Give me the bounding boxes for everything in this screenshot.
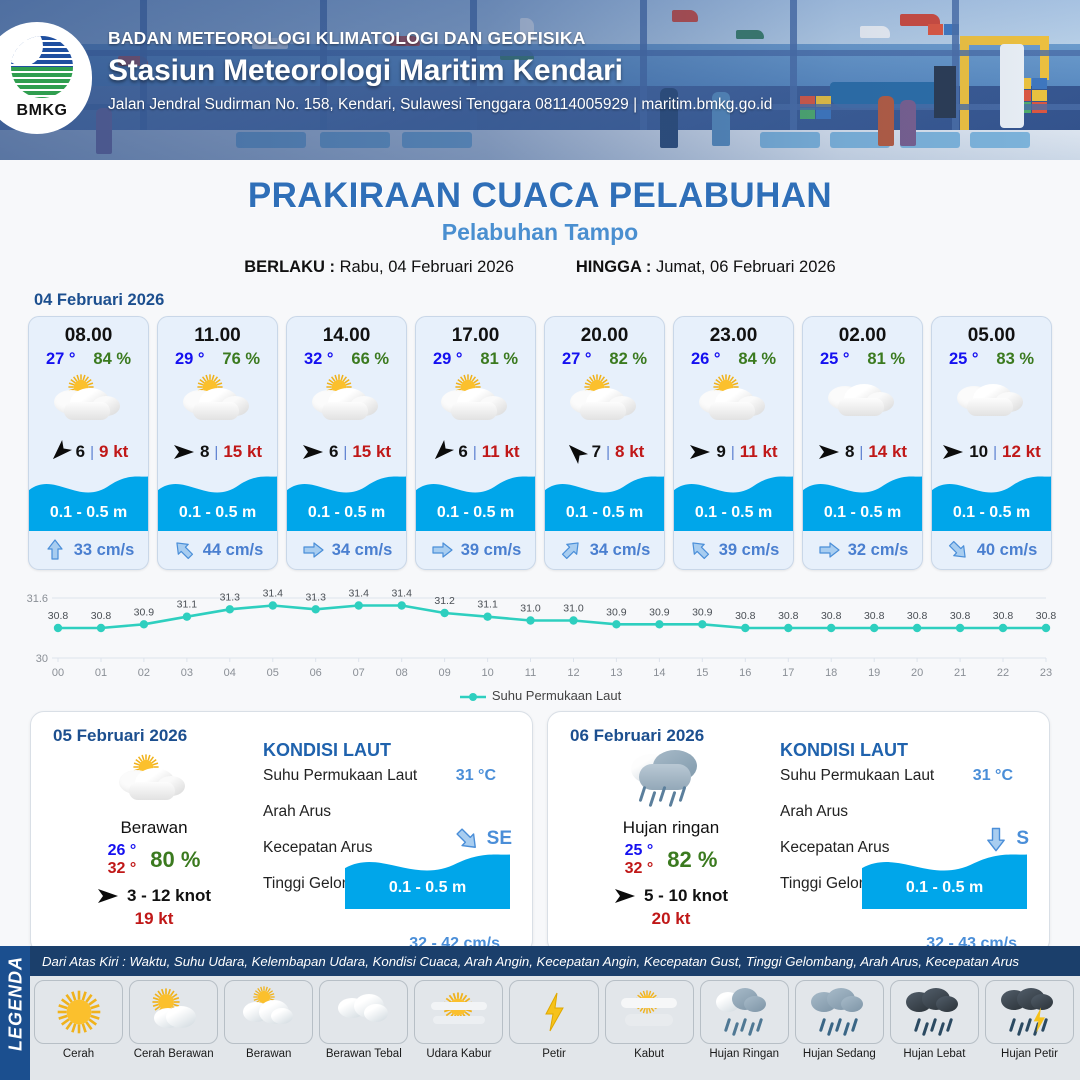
card-wave-height: 0.1 - 0.5 m (416, 504, 535, 522)
card-gust: 14 kt (868, 442, 907, 462)
svg-text:31.4: 31.4 (263, 588, 284, 600)
legend-item-icon-box (319, 980, 408, 1044)
legend-item-icon-box (414, 980, 503, 1044)
card-temperature: 27 ° (46, 350, 76, 369)
legend-item-icon-box (795, 980, 884, 1044)
card-wind: 6 | 15 kt (287, 435, 406, 469)
current-direction-arrow-e-icon (301, 538, 325, 562)
legend-item: Hujan Lebat (890, 980, 979, 1060)
card-time: 23.00 (674, 317, 793, 347)
svg-text:05: 05 (267, 667, 279, 679)
page-title: PRAKIRAAN CUACA PELABUHAN (0, 176, 1080, 216)
daily-weather-icon (566, 750, 776, 816)
legend-item-icon-box (985, 980, 1074, 1044)
heavy-rain-icon (906, 988, 962, 1036)
svg-text:30.8: 30.8 (821, 610, 842, 622)
card-current: 44 cm/s (158, 531, 277, 569)
svg-text:21: 21 (954, 667, 966, 679)
sun-cloud-icon (146, 988, 202, 1036)
legend-item-label: Cerah (34, 1048, 123, 1060)
card-humidity: 83 % (996, 350, 1034, 369)
legend-item-label: Hujan Petir (985, 1048, 1074, 1060)
station-address: Jalan Jendral Sudirman No. 158, Kendari,… (108, 96, 772, 114)
card-weather-icon (803, 371, 922, 435)
legend-item-label: Hujan Ringan (700, 1048, 789, 1060)
valid-from-label: BERLAKU : (244, 258, 335, 276)
lightning-icon-wrap (526, 988, 582, 1036)
card-wave: 0.1 - 0.5 m (932, 469, 1051, 531)
legend-item-label: Petir (509, 1048, 598, 1060)
lightning-icon (542, 992, 566, 1032)
daily-wind-range: 3 - 12 knot (127, 886, 211, 906)
card-wind: 8 | 15 kt (158, 435, 277, 469)
sst-chart-svg: 31.63030.80030.80130.90231.10331.30431.4… (0, 584, 1080, 688)
card-current: 34 cm/s (545, 531, 664, 569)
card-wind: 7 | 8 kt (545, 435, 664, 469)
legend-item-icon-box (605, 980, 694, 1044)
card-wind-speed: 6 (329, 442, 338, 462)
legend-side-title: LEGENDA (6, 952, 27, 1056)
svg-text:30.9: 30.9 (134, 606, 155, 618)
card-wind: 6 | 9 kt (29, 435, 148, 469)
card-temperature: 25 ° (820, 350, 850, 369)
card-time: 02.00 (803, 317, 922, 347)
svg-text:31.1: 31.1 (177, 599, 198, 611)
daily-wind: 3 - 12 knot (49, 886, 259, 906)
daily-wind-range: 5 - 10 knot (644, 886, 728, 906)
svg-text:18: 18 (825, 667, 837, 679)
valid-to-label: HINGGA : (576, 258, 651, 276)
light-rain-icon (716, 988, 772, 1036)
partly-cloudy-icon (115, 754, 193, 812)
card-current-speed: 33 cm/s (74, 541, 135, 560)
daily-temp-max: 32 ° (625, 860, 654, 878)
card-wind-speed: 10 (969, 442, 988, 462)
wave-graphic (862, 847, 1027, 909)
partly-cloudy-icon (50, 374, 128, 432)
svg-text:02: 02 (138, 667, 150, 679)
card-wave: 0.1 - 0.5 m (158, 469, 277, 531)
legend-item: Hujan Petir (985, 980, 1074, 1060)
legend-item-label: Berawan Tebal (319, 1048, 408, 1060)
svg-text:11: 11 (525, 667, 536, 679)
partly-cloudy-icon (308, 374, 386, 432)
svg-text:31.6: 31.6 (27, 593, 48, 605)
svg-text:12: 12 (567, 667, 579, 679)
legend-strip: LEGENDA Dari Atas Kiri : Waktu, Suhu Uda… (0, 946, 1080, 1080)
card-current-speed: 39 cm/s (719, 541, 780, 560)
partly-cloudy-icon (695, 374, 773, 432)
card-humidity: 84 % (738, 350, 776, 369)
svg-text:03: 03 (181, 667, 193, 679)
card-wind: 6 | 11 kt (416, 435, 535, 469)
page-subtitle: Pelabuhan Tampo (0, 219, 1080, 246)
card-wave: 0.1 - 0.5 m (803, 469, 922, 531)
legend-item-icon-box (890, 980, 979, 1044)
daily-wind: 5 - 10 knot (566, 886, 776, 906)
svg-text:31.0: 31.0 (520, 603, 541, 615)
hourly-date-label: 04 Februari 2026 (34, 291, 1080, 310)
svg-text:04: 04 (224, 667, 236, 679)
daily-gust: 19 kt (49, 909, 259, 929)
daily-humidity: 80 % (150, 847, 200, 873)
card-wind: 10 | 12 kt (932, 435, 1051, 469)
legend-item: Petir (509, 980, 598, 1060)
card-wave-height: 0.1 - 0.5 m (803, 504, 922, 522)
rain-icon (625, 750, 717, 816)
card-wave-height: 0.1 - 0.5 m (674, 504, 793, 522)
svg-text:30.8: 30.8 (864, 610, 885, 622)
daily-humidity: 82 % (667, 847, 717, 873)
card-current-speed: 34 cm/s (590, 541, 651, 560)
legend-item: Kabut (605, 980, 694, 1060)
legend-item-icon-box (129, 980, 218, 1044)
haze-icon (431, 988, 487, 1036)
hourly-card: 14.00 32 ° 66 % 6 | 15 kt 0.1 - 0.5 m 34… (286, 316, 407, 570)
svg-text:10: 10 (481, 667, 493, 679)
card-weather-icon (287, 371, 406, 435)
card-gust: 15 kt (352, 442, 391, 462)
hourly-forecast-row: 08.00 27 ° 84 % 6 | 9 kt 0.1 - 0.5 m 33 … (0, 316, 1080, 570)
wind-direction-arrow-e-icon (302, 442, 324, 462)
card-wave: 0.1 - 0.5 m (287, 469, 406, 531)
card-wind-speed: 8 (845, 442, 854, 462)
wind-direction-arrow-e-icon (942, 442, 964, 462)
card-current: 39 cm/s (416, 531, 535, 569)
card-temperature: 29 ° (433, 350, 463, 369)
card-wave: 0.1 - 0.5 m (545, 469, 664, 531)
wind-direction-arrow-e-icon (173, 442, 195, 462)
card-current-speed: 39 cm/s (461, 541, 522, 560)
card-current-speed: 34 cm/s (332, 541, 393, 560)
valid-from-value: Rabu, 04 Februari 2026 (340, 258, 514, 276)
card-gust: 12 kt (1002, 442, 1041, 462)
card-wind: 8 | 14 kt (803, 435, 922, 469)
chart-legend-marker (459, 692, 487, 702)
svg-text:30.9: 30.9 (649, 606, 670, 618)
bmkg-logo-mark (11, 36, 73, 98)
card-wind-speed: 9 (716, 442, 725, 462)
current-direction-arrow-nw-icon (167, 533, 201, 567)
card-gust: 8 kt (615, 442, 644, 462)
card-wind-speed: 8 (200, 442, 209, 462)
card-current: 39 cm/s (674, 531, 793, 569)
legend-item-label: Cerah Berawan (129, 1048, 218, 1060)
wind-direction-arrow-sw-icon (428, 437, 458, 467)
sst-label: Suhu Permukaan Laut (263, 767, 417, 784)
clouds-icon (336, 988, 392, 1036)
svg-text:30.8: 30.8 (91, 610, 112, 622)
sst-value: 31 °C (456, 767, 496, 785)
card-time: 20.00 (545, 317, 664, 347)
sst-value: 31 °C (973, 767, 1013, 785)
hourly-card: 11.00 29 ° 76 % 8 | 15 kt 0.1 - 0.5 m 44… (157, 316, 278, 570)
card-separator: | (473, 444, 477, 461)
current-direction-arrow-e-icon (430, 538, 454, 562)
card-wave-height: 0.1 - 0.5 m (29, 504, 148, 522)
svg-text:30.8: 30.8 (778, 610, 799, 622)
chart-legend-label: Suhu Permukaan Laut (492, 688, 621, 703)
wind-direction-arrow-e-icon (97, 886, 119, 906)
wind-direction-arrow-e-icon (689, 442, 711, 462)
svg-text:17: 17 (782, 667, 794, 679)
bmkg-logo-text: BMKG (17, 102, 68, 120)
card-time: 11.00 (158, 317, 277, 347)
wave-graphic (345, 847, 510, 909)
card-humidity: 76 % (222, 350, 260, 369)
card-wave-height: 0.1 - 0.5 m (287, 504, 406, 522)
chart-legend: Suhu Permukaan Laut (0, 688, 1080, 703)
wind-direction-arrow-sw-icon (45, 437, 75, 467)
svg-text:31.0: 31.0 (563, 603, 584, 615)
card-current: 34 cm/s (287, 531, 406, 569)
hourly-card: 20.00 27 ° 82 % 7 | 8 kt 0.1 - 0.5 m 34 … (544, 316, 665, 570)
cloud-sun-icon (241, 988, 297, 1036)
daily-wave: 0.1 - 0.5 m (345, 847, 510, 905)
daily-forecast-row: 05 Februari 2026 Berawan 26 ° 32 ° 80 % … (0, 711, 1080, 954)
cloudy-icon (953, 374, 1031, 432)
legend-note: Dari Atas Kiri : Waktu, Suhu Udara, Kele… (30, 946, 1080, 976)
current-direction-arrow-n-icon (43, 538, 67, 562)
card-weather-icon (545, 371, 664, 435)
legend-item-icon-box (224, 980, 313, 1044)
svg-text:31.3: 31.3 (220, 591, 241, 603)
card-separator: | (343, 444, 347, 461)
daily-panel: 06 Februari 2026 Hujan ringan 25 ° 32 ° … (547, 711, 1050, 954)
card-time: 17.00 (416, 317, 535, 347)
svg-text:23: 23 (1040, 667, 1052, 679)
current-direction-arrow-e-icon (817, 538, 841, 562)
card-weather-icon (674, 371, 793, 435)
valid-to: HINGGA : Jumat, 06 Februari 2026 (576, 258, 836, 277)
valid-to-value: Jumat, 06 Februari 2026 (656, 258, 836, 276)
page-header: BMKG BADAN METEOROLOGI KLIMATOLOGI DAN G… (0, 0, 1080, 160)
legend-item: Berawan (224, 980, 313, 1060)
card-weather-icon (416, 371, 535, 435)
current-direction-arrow-ne-icon (554, 533, 588, 567)
moderate-rain-icon (811, 988, 867, 1036)
svg-text:31.4: 31.4 (391, 588, 412, 600)
svg-text:06: 06 (310, 667, 322, 679)
legend-item-icon-box (700, 980, 789, 1044)
legend-side-bar: LEGENDA (0, 946, 30, 1080)
card-separator: | (606, 444, 610, 461)
svg-text:30: 30 (36, 653, 48, 665)
current-dir-label: Arah Arus (780, 803, 848, 820)
wind-direction-arrow-e-icon (614, 886, 636, 906)
thunderstorm-icon (1001, 988, 1057, 1036)
legend-item-label: Hujan Sedang (795, 1048, 884, 1060)
card-temperature: 25 ° (949, 350, 979, 369)
sst-chart: 31.63030.80030.80130.90231.10331.30431.4… (0, 580, 1080, 686)
current-dir-label: Arah Arus (263, 803, 331, 820)
svg-text:22: 22 (997, 667, 1009, 679)
card-gust: 11 kt (482, 442, 520, 462)
card-current: 40 cm/s (932, 531, 1051, 569)
svg-text:31.1: 31.1 (477, 599, 498, 611)
svg-text:30.8: 30.8 (735, 610, 756, 622)
card-time: 08.00 (29, 317, 148, 347)
card-wind: 9 | 11 kt (674, 435, 793, 469)
svg-text:01: 01 (95, 667, 107, 679)
svg-text:30.8: 30.8 (1036, 610, 1057, 622)
daily-temp-min: 26 ° (108, 842, 137, 860)
svg-text:30.9: 30.9 (692, 606, 713, 618)
svg-text:14: 14 (653, 667, 665, 679)
card-humidity: 66 % (351, 350, 389, 369)
card-wind-speed: 7 (592, 442, 601, 462)
svg-text:00: 00 (52, 667, 64, 679)
daily-temp-max: 32 ° (108, 860, 137, 878)
wind-direction-arrow-nw-icon (561, 437, 591, 467)
legend-item: Hujan Sedang (795, 980, 884, 1060)
card-wind-speed: 6 (76, 442, 85, 462)
hourly-card: 23.00 26 ° 84 % 9 | 11 kt 0.1 - 0.5 m 39… (673, 316, 794, 570)
card-wave-height: 0.1 - 0.5 m (158, 504, 277, 522)
card-weather-icon (158, 371, 277, 435)
card-separator: | (90, 444, 94, 461)
legend-item-icon-box (34, 980, 123, 1044)
card-wave: 0.1 - 0.5 m (416, 469, 535, 531)
daily-date: 06 Februari 2026 (570, 726, 704, 746)
card-wave: 0.1 - 0.5 m (674, 469, 793, 531)
card-separator: | (993, 444, 997, 461)
card-current: 33 cm/s (29, 531, 148, 569)
card-current-speed: 44 cm/s (203, 541, 264, 560)
card-wave-height: 0.1 - 0.5 m (545, 504, 664, 522)
valid-from: BERLAKU : Rabu, 04 Februari 2026 (244, 258, 514, 277)
current-direction-arrow-nw-icon (683, 533, 717, 567)
svg-text:15: 15 (696, 667, 708, 679)
svg-text:30.8: 30.8 (48, 610, 69, 622)
svg-text:09: 09 (438, 667, 450, 679)
legend-item: Berawan Tebal (319, 980, 408, 1060)
svg-text:31.4: 31.4 (348, 588, 369, 600)
card-temperature: 26 ° (691, 350, 721, 369)
legend-item-label: Kabut (605, 1048, 694, 1060)
hourly-card: 05.00 25 ° 83 % 10 | 12 kt 0.1 - 0.5 m 4… (931, 316, 1052, 570)
fog-icon (621, 988, 677, 1036)
daily-panel: 05 Februari 2026 Berawan 26 ° 32 ° 80 % … (30, 711, 533, 954)
card-temperature: 32 ° (304, 350, 334, 369)
daily-weather-icon (49, 750, 259, 816)
card-temperature: 27 ° (562, 350, 592, 369)
svg-text:16: 16 (739, 667, 751, 679)
card-wind-speed: 6 (458, 442, 467, 462)
svg-text:19: 19 (868, 667, 880, 679)
legend-item-label: Berawan (224, 1048, 313, 1060)
daily-wave-height: 0.1 - 0.5 m (862, 879, 1027, 897)
svg-text:30.8: 30.8 (950, 610, 971, 622)
cloudy-icon (824, 374, 902, 432)
card-humidity: 81 % (867, 350, 905, 369)
card-weather-icon (29, 371, 148, 435)
svg-text:13: 13 (610, 667, 622, 679)
card-weather-icon (932, 371, 1051, 435)
hourly-card: 17.00 29 ° 81 % 6 | 11 kt 0.1 - 0.5 m 39… (415, 316, 536, 570)
card-current-speed: 32 cm/s (848, 541, 909, 560)
legend-item: Cerah Berawan (129, 980, 218, 1060)
wind-direction-arrow-e-icon (818, 442, 840, 462)
legend-item-icon-box (509, 980, 598, 1044)
partly-cloudy-icon (179, 374, 257, 432)
current-direction-arrow-se-icon (941, 533, 975, 567)
hourly-card: 02.00 25 ° 81 % 8 | 14 kt 0.1 - 0.5 m 32… (802, 316, 923, 570)
card-wave: 0.1 - 0.5 m (29, 469, 148, 531)
svg-text:31.3: 31.3 (305, 591, 326, 603)
sst-label: Suhu Permukaan Laut (780, 767, 934, 784)
card-time: 05.00 (932, 317, 1051, 347)
card-separator: | (731, 444, 735, 461)
legend-items: Cerah Cerah Berawan Berawan Berawan Teba… (34, 980, 1074, 1060)
card-temperature: 29 ° (175, 350, 205, 369)
daily-condition: Hujan ringan (566, 818, 776, 838)
card-current: 32 cm/s (803, 531, 922, 569)
sea-condition-title: KONDISI LAUT (780, 740, 1037, 761)
card-gust: 15 kt (223, 442, 262, 462)
partly-cloudy-icon (437, 374, 515, 432)
card-humidity: 84 % (93, 350, 131, 369)
card-humidity: 81 % (480, 350, 518, 369)
card-humidity: 82 % (609, 350, 647, 369)
station-name: Stasiun Meteorologi Maritim Kendari (108, 54, 772, 88)
daily-wave-height: 0.1 - 0.5 m (345, 879, 510, 897)
daily-gust: 20 kt (566, 909, 776, 929)
validity-row: BERLAKU : Rabu, 04 Februari 2026 HINGGA … (0, 258, 1080, 277)
card-separator: | (214, 444, 218, 461)
svg-text:07: 07 (353, 667, 365, 679)
card-wave-height: 0.1 - 0.5 m (932, 504, 1051, 522)
org-name: BADAN METEOROLOGI KLIMATOLOGI DAN GEOFIS… (108, 28, 772, 49)
daily-date: 05 Februari 2026 (53, 726, 187, 746)
svg-text:20: 20 (911, 667, 923, 679)
sea-condition-title: KONDISI LAUT (263, 740, 520, 761)
card-separator: | (859, 444, 863, 461)
hourly-card: 08.00 27 ° 84 % 6 | 9 kt 0.1 - 0.5 m 33 … (28, 316, 149, 570)
card-gust: 11 kt (740, 442, 778, 462)
card-time: 14.00 (287, 317, 406, 347)
legend-item-label: Udara Kabur (414, 1048, 503, 1060)
daily-condition: Berawan (49, 818, 259, 838)
svg-text:30.8: 30.8 (993, 610, 1014, 622)
legend-item: Hujan Ringan (700, 980, 789, 1060)
svg-text:31.2: 31.2 (434, 595, 455, 607)
daily-wave: 0.1 - 0.5 m (862, 847, 1027, 905)
daily-temp-min: 25 ° (625, 842, 654, 860)
legend-item: Udara Kabur (414, 980, 503, 1060)
legend-item-label: Hujan Lebat (890, 1048, 979, 1060)
legend-item: Cerah (34, 980, 123, 1060)
sun-icon (57, 990, 101, 1034)
partly-cloudy-icon (566, 374, 644, 432)
svg-text:08: 08 (396, 667, 408, 679)
svg-text:30.8: 30.8 (907, 610, 928, 622)
card-current-speed: 40 cm/s (977, 541, 1038, 560)
card-gust: 9 kt (99, 442, 128, 462)
svg-text:30.9: 30.9 (606, 606, 627, 618)
